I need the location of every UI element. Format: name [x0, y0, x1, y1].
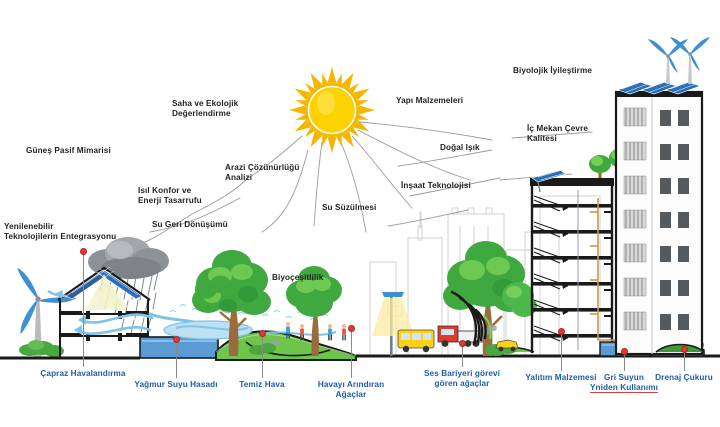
label-ses-bariyeri-agaclar: Ses Bariyeri görevi gören ağaçlar — [410, 369, 515, 390]
anchor-dot-capraz-havalandirma — [80, 248, 87, 255]
label-gunes-pasif-mimarisi: Güneş Pasif Mimarisi — [26, 146, 144, 156]
anchor-dot-ses-bariyeri-agaclar — [459, 340, 466, 347]
label-biyolojik-iyilestirme: Biyolojik İyileştirme — [513, 66, 633, 76]
label-gri-suyun-yeniden-line2: Yniden Kullanımı — [590, 383, 658, 393]
anchor-dot-drenaj-cukuru — [681, 346, 688, 353]
label-dogal-isik: Doğal Işık — [440, 143, 510, 153]
leader-line-yagmur-suyu-hasadi — [176, 338, 177, 378]
label-isil-konfor: Isıl Konfor ve Enerji Tasarrufu — [138, 186, 238, 207]
leader-line-capraz-havalandirma — [83, 250, 84, 367]
label-insaat-teknolojisi: İnşaat Teknolojisi — [401, 181, 501, 191]
infographic-canvas: Güneş Pasif MimarisiSaha ve Ekolojik Değ… — [0, 0, 720, 427]
anchor-dot-gri-suyun-yeniden — [621, 348, 628, 355]
drainage-pit — [0, 0, 720, 427]
label-yapi-malzemeleri: Yapı Malzemeleri — [396, 96, 496, 106]
anchor-dot-havayi-arindiran-agaclar — [348, 325, 355, 332]
label-yenilenebilir-teknolojiler: Yenilenebilir Teknolojilerin Entegrasyon… — [4, 222, 134, 243]
label-su-suzulmesi: Su Süzülmesi — [322, 203, 412, 213]
leader-line-havayi-arindiran-agaclar — [351, 327, 352, 378]
label-temiz-hava: Temiz Hava — [222, 380, 302, 390]
leader-line-temiz-hava — [262, 332, 263, 378]
label-biyocesitlilik: Biyoçeşitlilik — [272, 273, 352, 283]
anchor-dot-yalitim-malzemesi — [558, 328, 565, 335]
label-arazi-cozunurlugu: Arazi Çözünürlüğü Analizi — [225, 163, 325, 184]
label-havayi-arindiran-agaclar: Havayı Arındıran Ağaçlar — [306, 380, 396, 401]
leader-line-yalitim-malzemesi — [561, 330, 562, 371]
label-drenaj-cukuru: Drenaj Çukuru — [639, 373, 720, 383]
label-ic-mekan-cevre-kalitesi: İç Mekan Çevre Kalitesi — [527, 124, 627, 145]
label-gri-suyun-yeniden-line1: Gri Suyun — [604, 373, 644, 382]
label-su-geri-donusumu: Su Geri Dönüşümü — [152, 220, 262, 230]
anchor-dot-yagmur-suyu-hasadi — [173, 336, 180, 343]
label-capraz-havalandirma: Çapraz Havalandırma — [23, 369, 143, 379]
label-yagmur-suyu-hasadi: Yağmur Suyu Hasadı — [121, 380, 231, 390]
anchor-dot-temiz-hava — [259, 330, 266, 337]
label-saha-ve-ekolojik: Saha ve Ekolojik Değerlendirme — [172, 99, 282, 120]
